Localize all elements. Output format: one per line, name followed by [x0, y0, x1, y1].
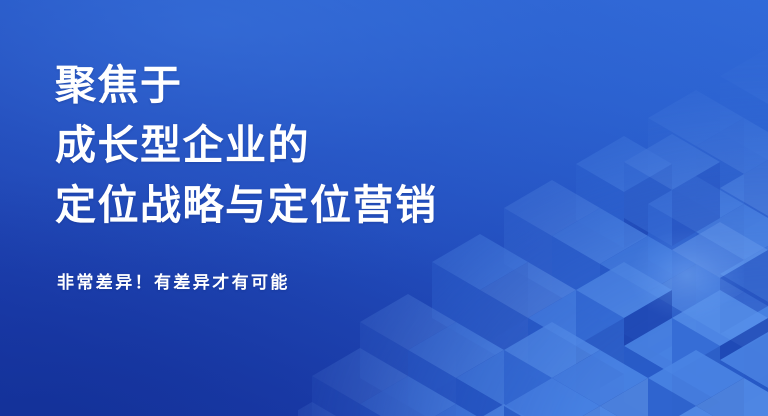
subheadline: 非常差异！有差异才有可能: [57, 270, 290, 296]
headline-line-2: 成长型企业的: [55, 115, 438, 175]
banner-content: 聚焦于 成长型企业的 定位战略与定位营销 非常差异！有差异才有可能: [55, 0, 675, 416]
headline-line-1: 聚焦于: [55, 55, 438, 115]
promo-banner: 聚焦于 成长型企业的 定位战略与定位营销 非常差异！有差异才有可能: [0, 0, 768, 416]
headline: 聚焦于 成长型企业的 定位战略与定位营销: [55, 55, 438, 235]
headline-line-3: 定位战略与定位营销: [55, 175, 438, 235]
